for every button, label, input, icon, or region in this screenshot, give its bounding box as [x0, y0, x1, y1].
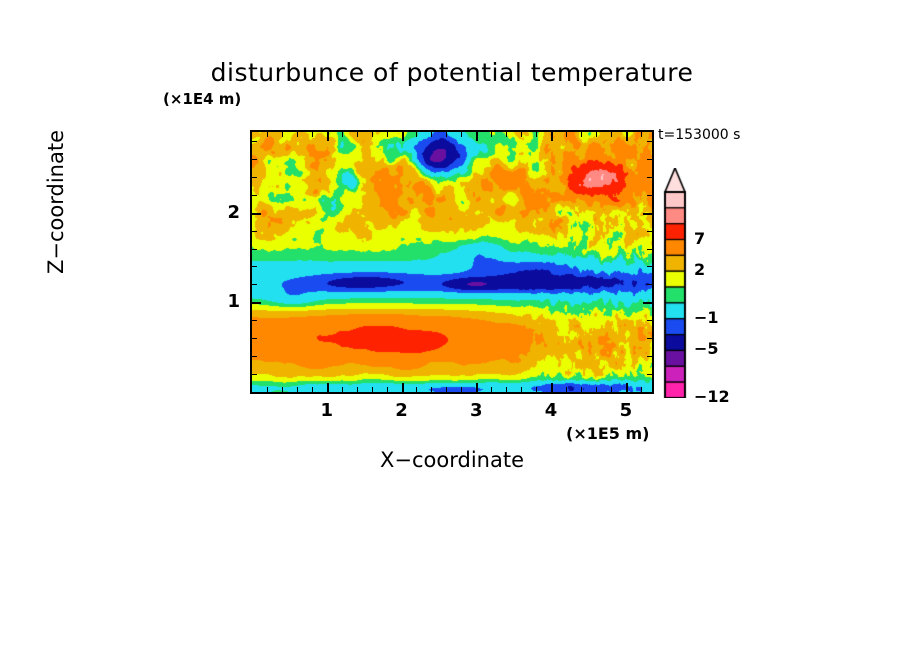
page-title: disturbunce of potential temperature	[0, 58, 904, 87]
tick-mark	[446, 132, 447, 137]
tick-mark	[647, 338, 652, 339]
z-unit-label: (×1E4 m)	[163, 90, 241, 108]
x-tick-label: 2	[382, 400, 422, 421]
x-tick-label: 3	[456, 400, 496, 421]
tick-mark	[416, 387, 417, 392]
x-tick-label: 4	[531, 400, 571, 421]
tick-mark	[647, 141, 652, 142]
tick-mark	[252, 249, 257, 250]
tick-mark	[416, 132, 417, 137]
tick-mark	[647, 266, 652, 267]
tick-mark	[252, 284, 257, 285]
x-tick-label: 1	[307, 400, 347, 421]
tick-mark	[647, 249, 652, 250]
tick-mark	[297, 132, 298, 137]
tick-mark	[643, 213, 652, 215]
tick-mark	[252, 320, 257, 321]
tick-mark	[647, 177, 652, 178]
tick-mark	[252, 177, 257, 178]
tick-mark	[647, 195, 652, 196]
tick-mark	[327, 383, 329, 392]
y-tick-label: 1	[200, 291, 240, 312]
y-axis-title: Z−coordinate	[44, 82, 68, 322]
tick-mark	[252, 195, 257, 196]
tick-mark	[312, 387, 313, 392]
tick-mark	[536, 132, 537, 137]
tick-mark	[536, 387, 537, 392]
tick-mark	[476, 383, 478, 392]
tick-mark	[387, 132, 388, 137]
x-unit-label: (×1E5 m)	[566, 424, 649, 443]
tick-mark	[647, 356, 652, 357]
tick-mark	[521, 132, 522, 137]
tick-mark	[402, 383, 404, 392]
tick-mark	[641, 387, 642, 392]
tick-mark	[252, 159, 257, 160]
tick-mark	[342, 387, 343, 392]
tick-mark	[581, 387, 582, 392]
colorbar-tick-label: −12	[694, 387, 730, 406]
tick-mark	[342, 132, 343, 137]
contour-field	[252, 132, 652, 392]
contour-plot-figure: disturbunce of potential temperature (×1…	[0, 0, 904, 654]
tick-mark	[252, 356, 257, 357]
tick-mark	[327, 132, 329, 141]
tick-mark	[267, 132, 268, 137]
tick-mark	[506, 132, 507, 137]
tick-mark	[387, 387, 388, 392]
tick-mark	[491, 387, 492, 392]
tick-mark	[626, 132, 628, 141]
tick-mark	[372, 132, 373, 137]
tick-mark	[282, 387, 283, 392]
tick-mark	[611, 387, 612, 392]
time-label: t=153000 s	[658, 127, 740, 143]
tick-mark	[596, 387, 597, 392]
tick-mark	[431, 387, 432, 392]
tick-mark	[551, 383, 553, 392]
x-axis-title: X−coordinate	[0, 448, 904, 472]
colorbar-tick-label: 2	[694, 260, 705, 279]
tick-mark	[282, 132, 283, 137]
tick-mark	[566, 132, 567, 137]
tick-mark	[431, 132, 432, 137]
tick-mark	[581, 132, 582, 137]
tick-mark	[461, 387, 462, 392]
tick-mark	[312, 132, 313, 137]
x-tick-label: 5	[606, 400, 646, 421]
tick-mark	[446, 387, 447, 392]
tick-mark	[506, 387, 507, 392]
tick-mark	[647, 374, 652, 375]
tick-mark	[647, 284, 652, 285]
tick-mark	[551, 132, 553, 141]
tick-mark	[252, 338, 257, 339]
colorbar-tick-label: 7	[694, 229, 705, 248]
tick-mark	[357, 132, 358, 137]
tick-mark	[252, 374, 257, 375]
tick-mark	[566, 387, 567, 392]
tick-mark	[252, 266, 257, 267]
tick-mark	[647, 320, 652, 321]
tick-mark	[267, 387, 268, 392]
tick-mark	[252, 213, 261, 215]
tick-mark	[252, 231, 257, 232]
tick-mark	[357, 387, 358, 392]
tick-mark	[297, 387, 298, 392]
colorbar-tick-label: −5	[694, 339, 719, 358]
tick-mark	[521, 387, 522, 392]
tick-mark	[643, 302, 652, 304]
tick-mark	[626, 383, 628, 392]
tick-mark	[641, 132, 642, 137]
y-tick-label: 2	[200, 202, 240, 223]
tick-mark	[476, 132, 478, 141]
colorbar-tick-label: −1	[694, 308, 719, 327]
tick-mark	[596, 132, 597, 137]
colorbar	[662, 168, 688, 398]
tick-mark	[372, 387, 373, 392]
tick-mark	[402, 132, 404, 141]
tick-mark	[647, 159, 652, 160]
tick-mark	[491, 132, 492, 137]
tick-mark	[647, 231, 652, 232]
tick-mark	[252, 141, 257, 142]
tick-mark	[611, 132, 612, 137]
tick-mark	[461, 132, 462, 137]
tick-mark	[252, 302, 261, 304]
